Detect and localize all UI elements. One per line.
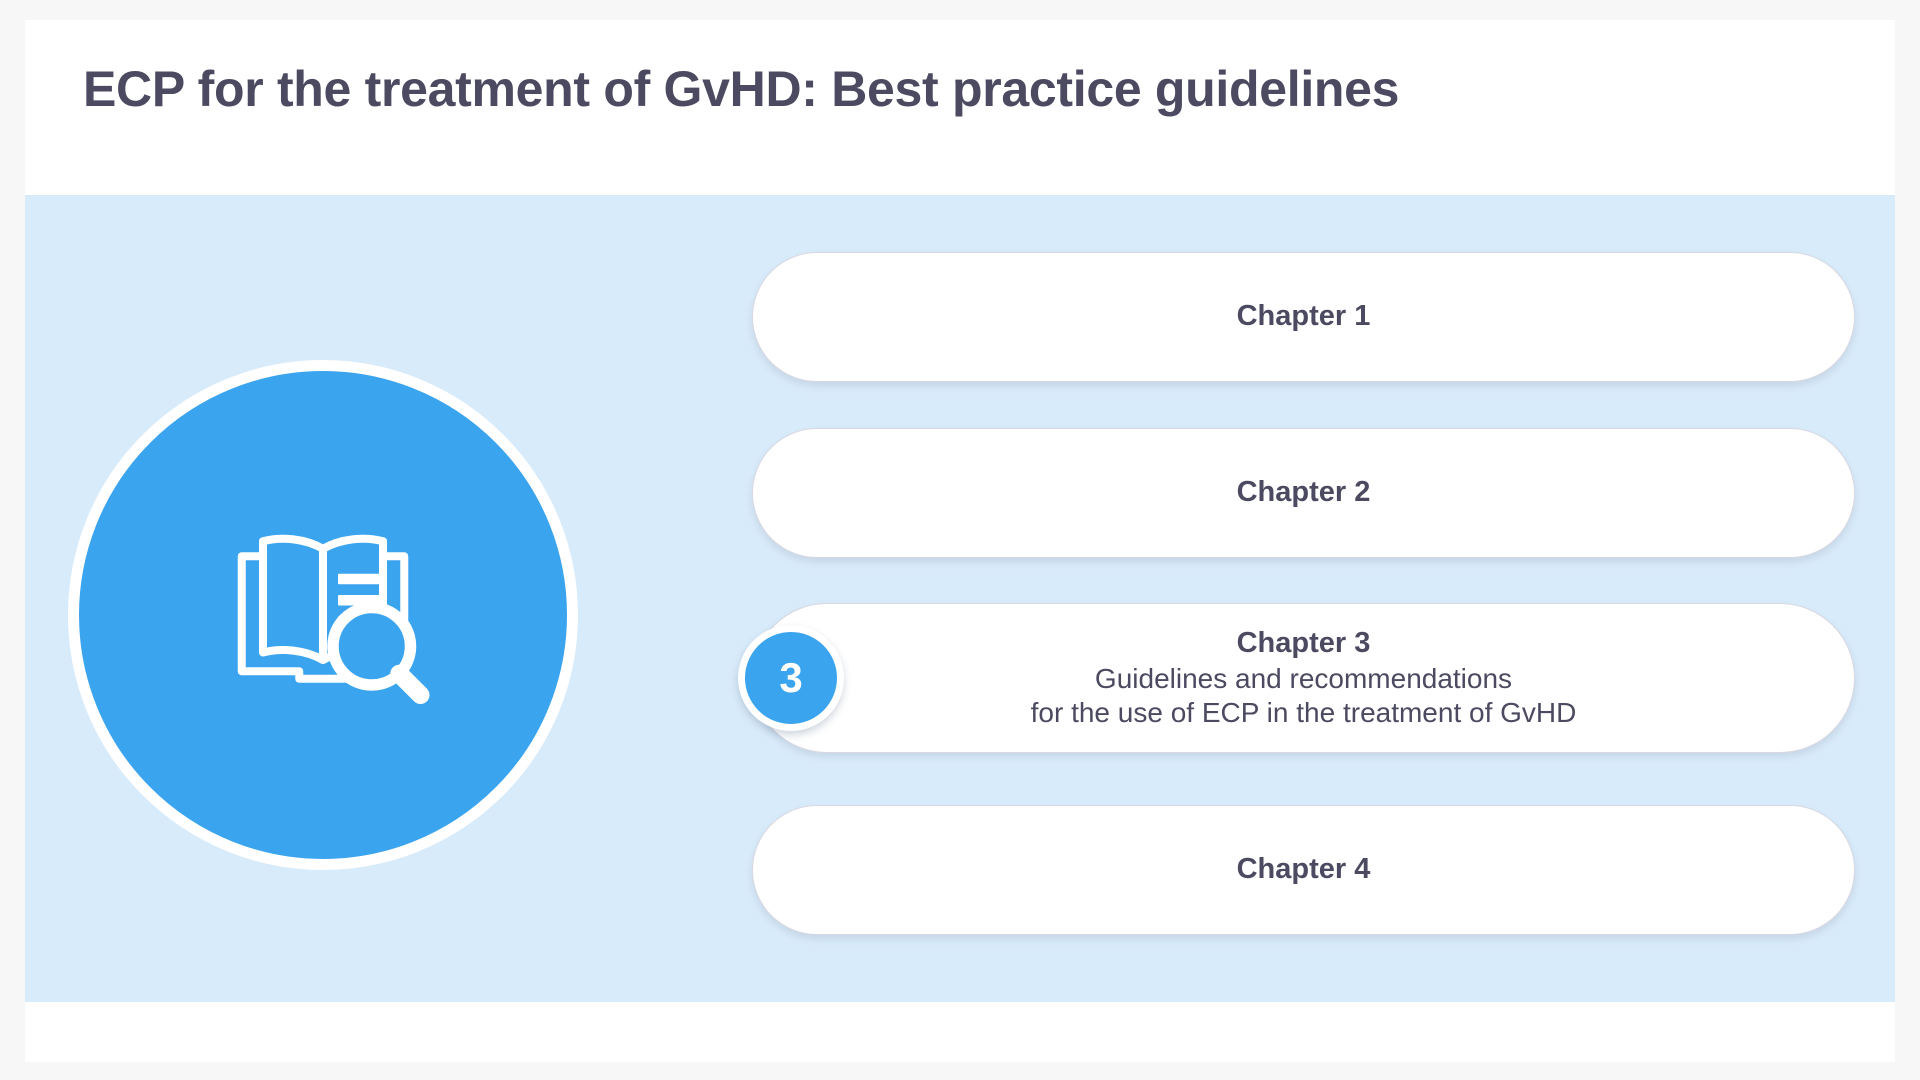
slide-header: ECP for the treatment of GvHD: Best prac… bbox=[25, 20, 1895, 195]
chapter-3-number-badge-label: 3 bbox=[779, 657, 802, 699]
slide-canvas: ECP for the treatment of GvHD: Best prac… bbox=[25, 20, 1895, 1062]
chapter-card-4[interactable]: Chapter 4 bbox=[752, 805, 1855, 935]
page-title: ECP for the treatment of GvHD: Best prac… bbox=[83, 60, 1399, 118]
chapter-card-2-title: Chapter 2 bbox=[1237, 475, 1371, 510]
slide-footer bbox=[25, 1002, 1895, 1062]
chapter-card-3-subtitle-line-1: Guidelines and recommendations bbox=[1095, 662, 1512, 696]
chapter-3-number-badge[interactable]: 3 bbox=[738, 625, 844, 731]
chapter-card-3-subtitle-line-2: for the use of ECP in the treatment of G… bbox=[1031, 696, 1577, 730]
chapter-illustration-medallion bbox=[68, 360, 578, 870]
chapter-card-2[interactable]: Chapter 2 bbox=[752, 428, 1855, 558]
chapter-card-1[interactable]: Chapter 1 bbox=[752, 252, 1855, 382]
chapter-card-3[interactable]: Chapter 3 Guidelines and recommendations… bbox=[752, 603, 1855, 753]
chapter-card-4-title: Chapter 4 bbox=[1237, 852, 1371, 887]
chapter-card-1-title: Chapter 1 bbox=[1237, 299, 1371, 334]
chapter-card-3-title: Chapter 3 bbox=[1237, 626, 1371, 661]
content-panel: Chapter 1 Chapter 2 Chapter 3 Guidelines… bbox=[25, 195, 1895, 1002]
open-book-with-magnifier-icon bbox=[198, 490, 448, 740]
